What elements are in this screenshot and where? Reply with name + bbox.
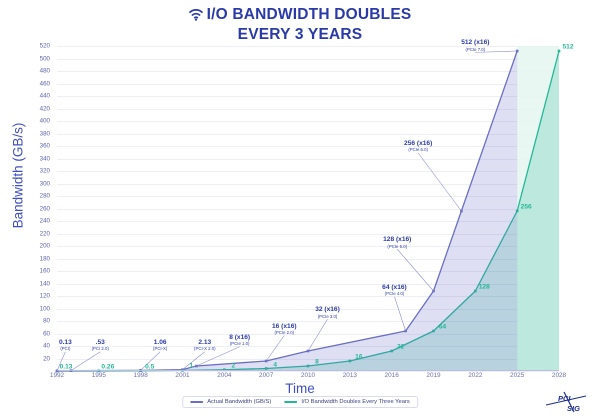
- y-tick-label: 360: [40, 143, 50, 150]
- plot-area: [57, 46, 559, 371]
- data-point-marker: [195, 365, 198, 368]
- x-tick-label: 1992: [50, 372, 64, 379]
- y-tick-label: 180: [40, 255, 50, 262]
- data-point-marker: [307, 350, 310, 353]
- y-tick-label: 200: [40, 243, 50, 250]
- data-point-marker: [516, 50, 519, 53]
- y-tick-label: 500: [40, 55, 50, 62]
- y-tick-label: 420: [40, 105, 50, 112]
- y-tick-label: 280: [40, 193, 50, 200]
- data-point-marker: [404, 330, 407, 333]
- y-tick-label: 40: [43, 343, 50, 350]
- y-tick-label: 160: [40, 268, 50, 275]
- y-tick-label: 440: [40, 93, 50, 100]
- x-tick-label: 2007: [259, 372, 273, 379]
- series-area: [57, 51, 517, 371]
- chart-svg: [57, 46, 559, 371]
- x-axis-line: [57, 370, 559, 371]
- y-tick-label: 20: [43, 355, 50, 362]
- y-tick-label: 260: [40, 205, 50, 212]
- x-tick-label: 2001: [175, 372, 189, 379]
- y-tick-label: 120: [40, 293, 50, 300]
- data-point-marker: [432, 290, 435, 293]
- chart-title-line-2: EVERY 3 YEARS: [0, 26, 600, 44]
- x-tick-label: 2019: [426, 372, 440, 379]
- pci-sig-logo: PCI SIG: [542, 390, 590, 414]
- doubling-value-label: 512: [562, 44, 573, 51]
- y-tick-label: 100: [40, 305, 50, 312]
- x-tick-label: 2004: [217, 372, 231, 379]
- y-tick-label: 460: [40, 80, 50, 87]
- wifi-icon: [189, 8, 203, 26]
- y-tick-label: 240: [40, 218, 50, 225]
- legend-swatch-doubling: [284, 401, 297, 403]
- legend-label-actual: Actual Bandwidth (GB/S): [207, 399, 271, 405]
- chart-title-line-1: I/O BANDWIDTH DOUBLES: [207, 6, 412, 23]
- chart-title: I/O BANDWIDTH DOUBLES EVERY 3 YEARS: [0, 6, 600, 44]
- logo-text-bottom: SIG: [567, 404, 580, 413]
- x-tick-label: 2028: [552, 372, 566, 379]
- y-tick-label: 340: [40, 155, 50, 162]
- data-point-marker: [265, 360, 268, 363]
- y-tick-label: 520: [40, 43, 50, 50]
- legend-label-doubling: I/O Bandwidth Doubles Every Three Years: [301, 399, 410, 405]
- x-tick-label: 2025: [510, 372, 524, 379]
- legend-swatch-actual: [190, 401, 203, 403]
- legend-item-actual: Actual Bandwidth (GB/S): [190, 399, 271, 405]
- data-point-marker: [460, 210, 463, 213]
- x-tick-label: 2016: [385, 372, 399, 379]
- x-tick-label: 2022: [468, 372, 482, 379]
- y-tick-label: 400: [40, 118, 50, 125]
- legend-item-doubling: I/O Bandwidth Doubles Every Three Years: [284, 399, 410, 405]
- y-tick-label: 300: [40, 180, 50, 187]
- x-axis-title: Time: [0, 381, 600, 396]
- y-tick-label: 220: [40, 230, 50, 237]
- chart-screenshot: I/O BANDWIDTH DOUBLES EVERY 3 YEARS Band…: [0, 0, 600, 420]
- x-tick-label: 1998: [134, 372, 148, 379]
- chart-legend: Actual Bandwidth (GB/S) I/O Bandwidth Do…: [182, 396, 418, 408]
- data-point-marker: [558, 50, 561, 53]
- y-tick-label: 80: [43, 318, 50, 325]
- y-tick-label: 60: [43, 330, 50, 337]
- y-axis-ticks: 2040608010012014016018020022024026028030…: [0, 46, 55, 371]
- x-tick-label: 1995: [92, 372, 106, 379]
- y-tick-label: 380: [40, 130, 50, 137]
- y-tick-label: 140: [40, 280, 50, 287]
- y-tick-label: 320: [40, 168, 50, 175]
- x-tick-label: 2013: [343, 372, 357, 379]
- x-tick-label: 2010: [301, 372, 315, 379]
- logo-text-top: PCI: [558, 394, 571, 403]
- y-tick-label: 480: [40, 68, 50, 75]
